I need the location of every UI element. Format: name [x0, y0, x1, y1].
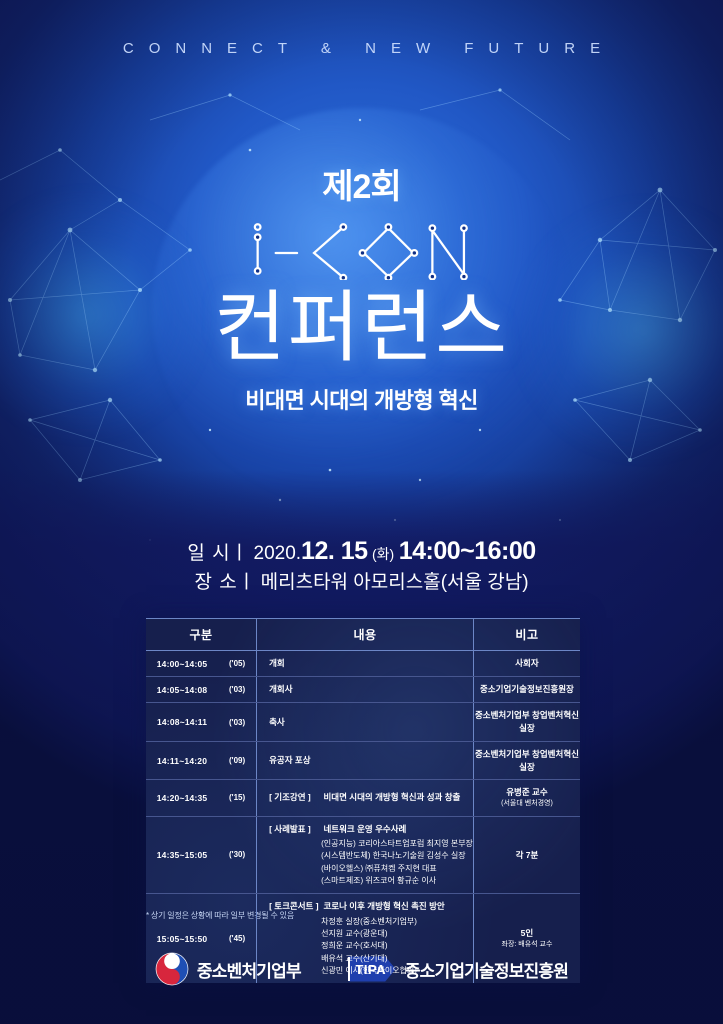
- content-title: 개회: [269, 658, 285, 668]
- content-title: 코로나 이후 개방형 혁신 촉진 방안: [323, 901, 444, 911]
- cell-duration: ('30): [218, 816, 256, 894]
- schedule-table-container: 구분 내용 비고 14:00~14:05('05)개회사회자14:05~14:0…: [146, 618, 580, 983]
- cell-remark: 각 7분: [473, 816, 580, 894]
- remark-main: 사회자: [474, 657, 580, 670]
- cell-remark: 사회자: [473, 651, 580, 677]
- schedule-table: 구분 내용 비고 14:00~14:05('05)개회사회자14:05~14:0…: [146, 619, 580, 983]
- remark-sub: (서울대 벤처경영): [474, 799, 580, 810]
- cell-remark: 중소벤처기업부 창업벤처혁신실장: [473, 703, 580, 742]
- cell-content: 축사: [257, 703, 474, 742]
- remark-main: 5인: [474, 927, 580, 940]
- remark-main: 중소벤처기업부 창업벤처혁신실장: [474, 748, 580, 774]
- date-weekday: (화): [372, 546, 394, 562]
- header-remark: 비고: [473, 619, 580, 651]
- poster-subtitle: 비대면 시대의 개방형 혁신: [0, 383, 723, 415]
- i-con-logo: [243, 218, 480, 280]
- cell-content: 개회사: [257, 677, 474, 703]
- cell-remark: 중소기업기술정보진흥원장: [473, 677, 580, 703]
- cell-content: [ 기조강연 ] 비대면 시대의 개방형 혁신과 성과 창출: [257, 780, 474, 816]
- place-label: 장 소ㅣ: [194, 572, 256, 593]
- content-subline: 차정훈 실장(중소벤처기업부): [321, 916, 473, 928]
- cell-duration: ('45): [218, 894, 256, 984]
- date-time: 14:00~16:00: [399, 537, 536, 565]
- content-subline: (시스템반도체) 한국나노기술원 김성수 실장: [321, 850, 473, 862]
- place-value: 메리츠타워 아모리스홀(서울 강남): [261, 572, 529, 593]
- wordmark-text: 컨퍼런스: [214, 283, 509, 371]
- content-sublines: (인공지능) 코리아스타트업포럼 최지영 본부장(시스템반도체) 한국나노기술원…: [321, 838, 473, 888]
- date-year: 2020.: [254, 543, 302, 564]
- sponsor-logos: 중소벤처기업부 TIPA 중소기업기술정보진흥원: [0, 952, 723, 986]
- remark-main: 중소기업기술정보진흥원장: [474, 683, 580, 696]
- edition-label: 제2회: [0, 170, 723, 204]
- content-title: 비대면 시대의 개방형 혁신과 성과 창출: [323, 792, 460, 802]
- cell-duration: ('03): [218, 677, 256, 703]
- cell-content: [ 사례발표 ] 네트워크 운영 우수사례(인공지능) 코리아스타트업포럼 최지…: [257, 816, 474, 894]
- content-subline: (인공지능) 코리아스타트업포럼 최지영 본부장: [321, 838, 473, 850]
- cell-time: 14:05~14:08: [146, 677, 218, 703]
- content-subline: 선지원 교수(광운대): [321, 928, 473, 940]
- date-row: 일 시ㅣ 2020.12. 15 (화) 14:00~16:00: [0, 534, 723, 570]
- cell-time: 15:05~15:50: [146, 894, 218, 984]
- tipa-icon: TIPA: [345, 955, 397, 983]
- table-row: 14:08~14:11('03)축사중소벤처기업부 창업벤처혁신실장: [146, 703, 580, 742]
- conference-wordmark: 컨퍼런스: [0, 287, 723, 375]
- cell-remark: 중소벤처기업부 창업벤처혁신실장: [473, 741, 580, 780]
- remark-main: 유병준 교수: [474, 786, 580, 799]
- cell-duration: ('03): [218, 703, 256, 742]
- remark-main: 각 7분: [474, 849, 580, 862]
- content-subline: 정희운 교수(호서대): [321, 940, 473, 952]
- cell-duration: ('05): [218, 651, 256, 677]
- content-subline: (스마트제조) 위즈코어 황규순 이사: [321, 875, 473, 887]
- content-tag: [ 토크콘서트 ]: [269, 900, 321, 913]
- cell-remark: 5인좌장: 배유석 교수: [473, 894, 580, 984]
- cell-time: 14:08~14:11: [146, 703, 218, 742]
- content-title: 축사: [269, 717, 285, 727]
- cell-time: 14:11~14:20: [146, 741, 218, 780]
- tipa-abbr: TIPA: [345, 955, 397, 983]
- cell-remark: 유병준 교수(서울대 벤처경영): [473, 780, 580, 816]
- content-title: 개회사: [269, 684, 292, 694]
- table-header-row: 구분 내용 비고: [146, 619, 580, 651]
- title-block: 제2회: [0, 170, 723, 415]
- cell-time: 14:20~14:35: [146, 780, 218, 816]
- table-row: 14:35~15:05('30)[ 사례발표 ] 네트워크 운영 우수사례(인공…: [146, 816, 580, 894]
- schedule-table-head: 구분 내용 비고: [146, 619, 580, 651]
- cell-time: 14:35~15:05: [146, 816, 218, 894]
- remark-sub: 좌장: 배유석 교수: [474, 940, 580, 951]
- header-division: 구분: [146, 619, 257, 651]
- cell-time: 14:00~14:05: [146, 651, 218, 677]
- schedule-table-body: 14:00~14:05('05)개회사회자14:05~14:08('03)개회사…: [146, 651, 580, 984]
- cell-duration: ('15): [218, 780, 256, 816]
- content-tag: [ 기조강연 ]: [269, 791, 321, 804]
- cell-content: 개회: [257, 651, 474, 677]
- content-subline: (바이오헬스) ㈜퓨쳐켐 주지현 대표: [321, 863, 473, 875]
- content-title: 유공자 포상: [269, 755, 310, 765]
- conference-poster: CONNECT & NEW FUTURE 제2회: [0, 0, 723, 1024]
- event-info: 일 시ㅣ 2020.12. 15 (화) 14:00~16:00 장 소ㅣ 메리…: [0, 534, 723, 596]
- header-content: 내용: [257, 619, 474, 651]
- table-row: 14:11~14:20('09)유공자 포상중소벤처기업부 창업벤처혁신실장: [146, 741, 580, 780]
- remark-main: 중소벤처기업부 창업벤처혁신실장: [474, 709, 580, 735]
- date-label: 일 시ㅣ: [187, 543, 249, 564]
- cell-duration: ('09): [218, 741, 256, 780]
- content-title: 네트워크 운영 우수사례: [323, 824, 406, 834]
- table-row: 14:05~14:08('03)개회사중소기업기술정보진흥원장: [146, 677, 580, 703]
- poster-tagline: CONNECT & NEW FUTURE: [0, 40, 723, 57]
- date-month-day: 12. 15: [301, 537, 368, 565]
- content-tag: [ 사례발표 ]: [269, 823, 321, 836]
- table-row: 14:00~14:05('05)개회사회자: [146, 651, 580, 677]
- place-row: 장 소ㅣ 메리츠타워 아모리스홀(서울 강남): [0, 570, 723, 597]
- cell-content: 유공자 포상: [257, 741, 474, 780]
- table-row: 14:20~14:35('15)[ 기조강연 ] 비대면 시대의 개방형 혁신과…: [146, 780, 580, 816]
